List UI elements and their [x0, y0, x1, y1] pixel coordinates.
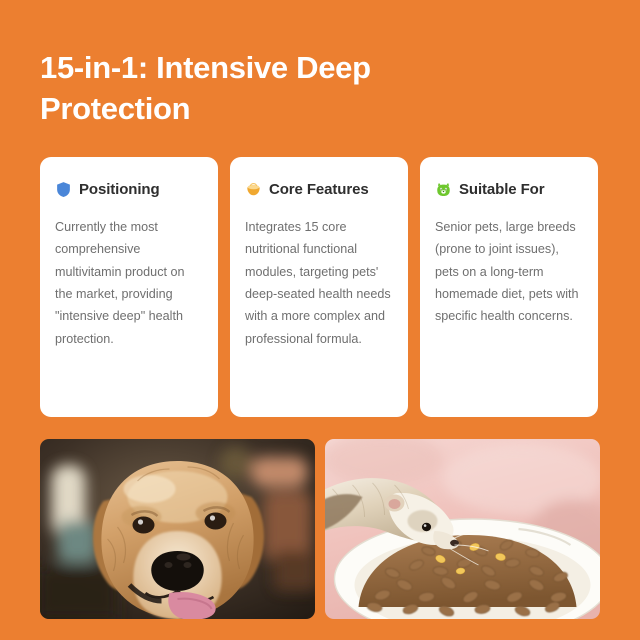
card-title: Positioning — [79, 181, 160, 198]
page-title: 15-in-1: Intensive Deep Protection — [40, 48, 470, 130]
golden-retriever-photo — [40, 439, 315, 619]
poster-root: 15-in-1: Intensive Deep Protection Posit… — [0, 0, 640, 640]
card-title: Core Features — [269, 181, 369, 198]
card-title: Suitable For — [459, 181, 544, 198]
feature-cards-row: Positioning Currently the most comprehen… — [40, 157, 600, 417]
card-header: Core Features — [245, 181, 393, 198]
pet-face-icon — [435, 181, 452, 198]
card-core-features: Core Features Integrates 15 core nutriti… — [230, 157, 408, 417]
food-bowl-icon — [245, 181, 262, 198]
card-body-text: Currently the most comprehensive multivi… — [55, 216, 203, 350]
card-header: Positioning — [55, 181, 203, 198]
photo-row — [40, 439, 600, 619]
card-body-text: Integrates 15 core nutritional functiona… — [245, 216, 393, 350]
card-body-text: Senior pets, large breeds (prone to join… — [435, 216, 583, 328]
card-header: Suitable For — [435, 181, 583, 198]
ferret-eating-kibble-photo — [325, 439, 600, 619]
card-suitable-for: Suitable For Senior pets, large breeds (… — [420, 157, 598, 417]
card-positioning: Positioning Currently the most comprehen… — [40, 157, 218, 417]
shield-icon — [55, 181, 72, 198]
